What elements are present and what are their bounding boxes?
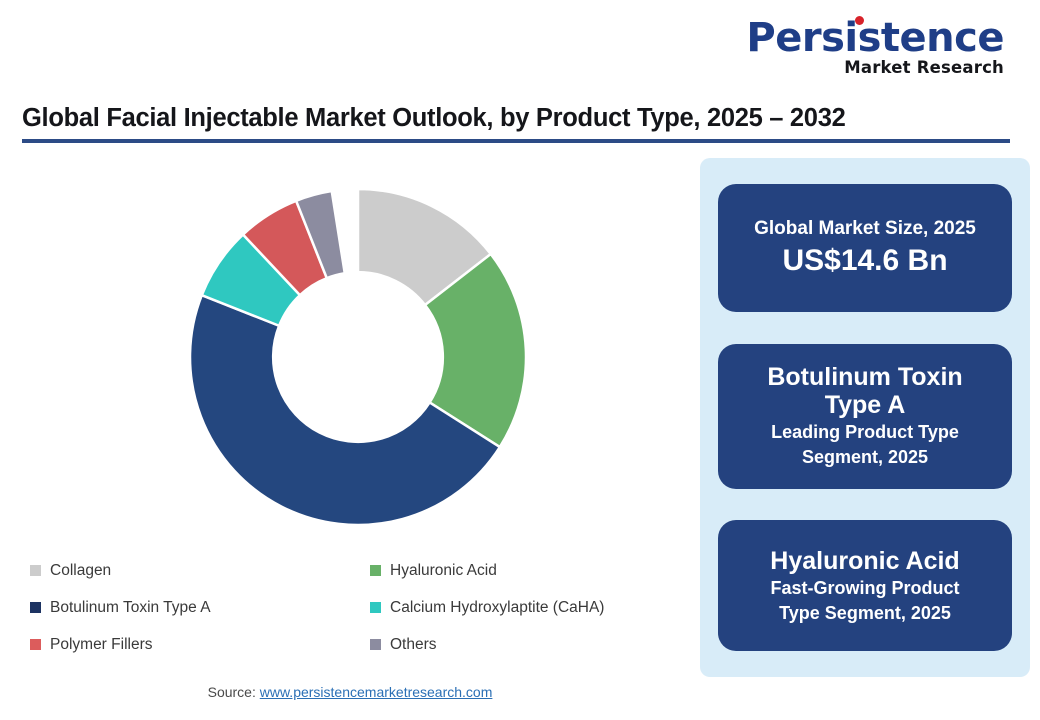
legend-swatch-icon	[370, 639, 381, 650]
fast-growing-segment-card: Hyaluronic Acid Fast-Growing Product Typ…	[718, 520, 1012, 651]
title-block: Global Facial Injectable Market Outlook,…	[22, 104, 1010, 143]
logo-wordmark-text: Persistence	[746, 15, 1004, 61]
legend-label: Others	[390, 636, 437, 654]
market-size-label: Global Market Size, 2025	[732, 217, 998, 241]
source-prefix: Source:	[208, 684, 260, 700]
leading-segment-name-line1: Botulinum Toxin	[732, 363, 998, 391]
legend-swatch-icon	[370, 602, 381, 613]
legend-swatch-icon	[30, 639, 41, 650]
legend-item-hyaluronic-acid: Hyaluronic Acid	[370, 562, 690, 580]
chart-legend: Collagen Hyaluronic Acid Botulinum Toxin…	[30, 552, 690, 663]
fast-growing-segment-sub-line2: Type Segment, 2025	[732, 603, 998, 625]
donut-chart	[0, 150, 700, 560]
market-size-value: US$14.6 Bn	[732, 243, 998, 279]
legend-item-botulinum-toxin-type-a: Botulinum Toxin Type A	[30, 599, 370, 617]
legend-item-others: Others	[370, 636, 690, 654]
legend-item-calcium-hydroxylaptite: Calcium Hydroxylaptite (CaHA)	[370, 599, 690, 617]
source-line: Source: www.persistencemarketresearch.co…	[0, 684, 700, 700]
legend-label: Hyaluronic Acid	[390, 562, 497, 580]
logo-tagline: Market Research	[746, 60, 1004, 77]
legend-swatch-icon	[30, 565, 41, 576]
fast-growing-segment-name: Hyaluronic Acid	[732, 547, 998, 575]
legend-label: Botulinum Toxin Type A	[50, 599, 211, 617]
legend-item-polymer-fillers: Polymer Fillers	[30, 636, 370, 654]
page-title: Global Facial Injectable Market Outlook,…	[22, 104, 1010, 133]
legend-label: Collagen	[50, 562, 111, 580]
infographic-page: Persistence Market Research Global Facia…	[0, 0, 1040, 720]
brand-logo: Persistence Market Research	[746, 18, 1004, 77]
legend-swatch-icon	[370, 565, 381, 576]
legend-item-collagen: Collagen	[30, 562, 370, 580]
legend-label: Polymer Fillers	[50, 636, 152, 654]
leading-segment-card: Botulinum Toxin Type A Leading Product T…	[718, 344, 1012, 489]
market-size-card: Global Market Size, 2025 US$14.6 Bn	[718, 184, 1012, 312]
title-underline-rule	[22, 139, 1010, 143]
legend-label: Calcium Hydroxylaptite (CaHA)	[390, 599, 604, 617]
leading-segment-name-line2: Type A	[732, 391, 998, 419]
logo-wordmark: Persistence	[746, 18, 1004, 58]
highlights-panel: Global Market Size, 2025 US$14.6 Bn Botu…	[700, 158, 1030, 677]
legend-swatch-icon	[30, 602, 41, 613]
source-url-link[interactable]: www.persistencemarketresearch.com	[260, 684, 493, 700]
donut-chart-svg	[0, 150, 700, 560]
donut-slice-group	[190, 189, 526, 525]
fast-growing-segment-sub-line1: Fast-Growing Product	[732, 578, 998, 600]
leading-segment-sub-line1: Leading Product Type	[732, 422, 998, 444]
leading-segment-sub-line2: Segment, 2025	[732, 447, 998, 469]
